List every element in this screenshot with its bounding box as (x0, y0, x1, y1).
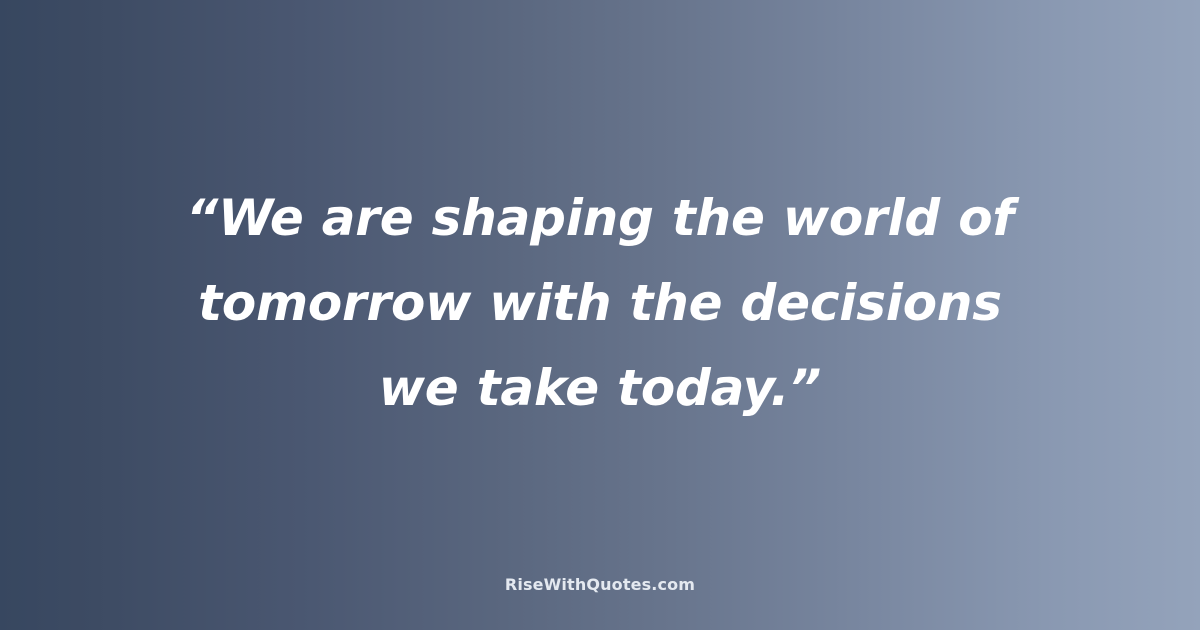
footer: RiseWithQuotes.com (0, 538, 1200, 630)
quote-line-1: “We are shaping the world of tomorrow wi… (64, 176, 1136, 346)
quote-block: “We are shaping the world of tomorrow wi… (0, 176, 1200, 431)
quote-text: “We are shaping the world of tomorrow wi… (64, 176, 1136, 431)
footer-brand-label: RiseWithQuotes.com (505, 575, 695, 594)
quote-card: “We are shaping the world of tomorrow wi… (0, 0, 1200, 630)
quote-line-2: we take today.” (64, 346, 1136, 431)
